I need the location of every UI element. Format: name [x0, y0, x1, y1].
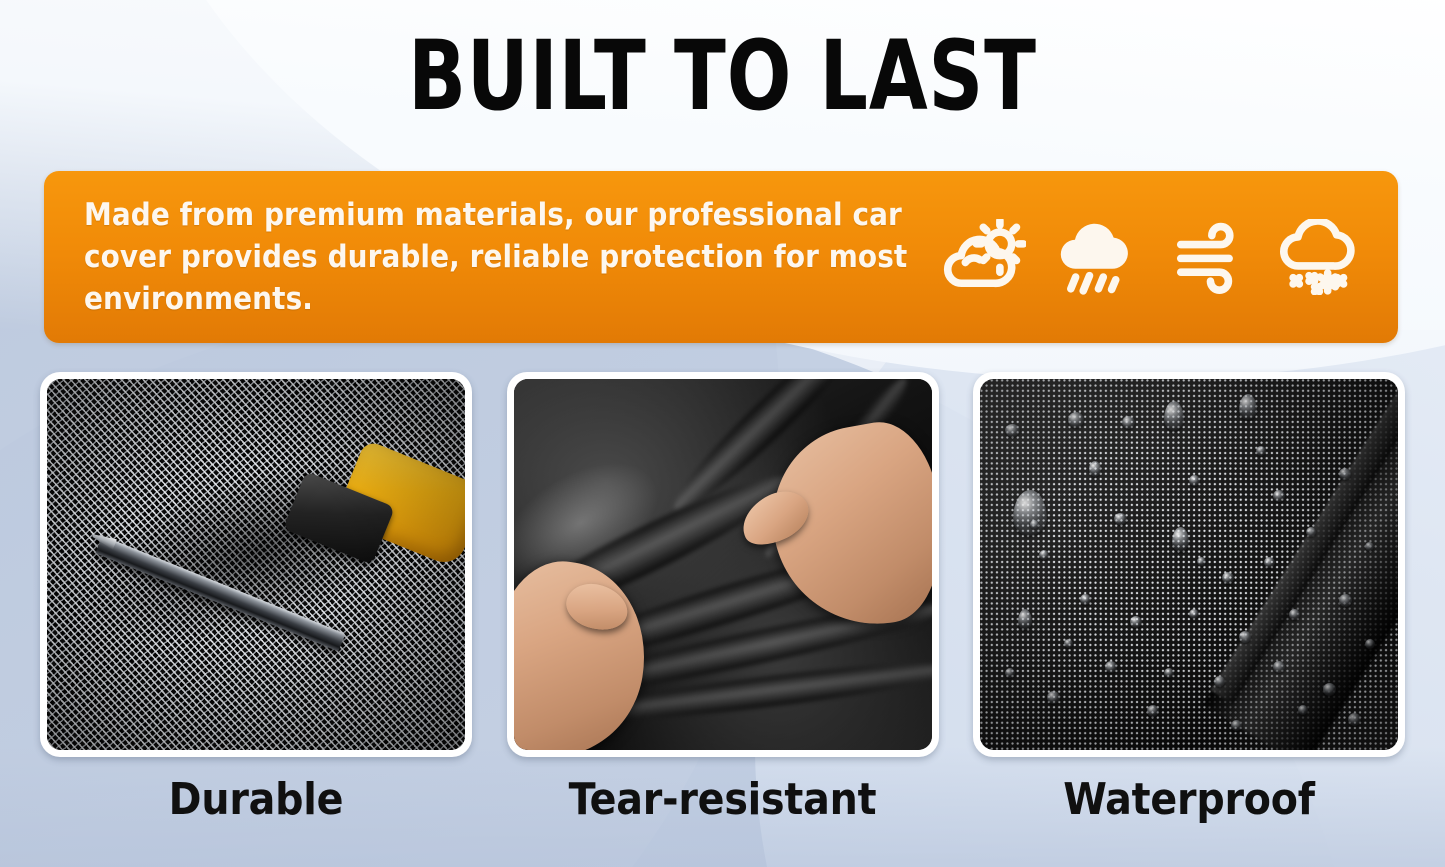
weather-icon-row	[924, 219, 1398, 295]
feature-card-frame	[507, 372, 939, 757]
tear-resistant-hands-stretch-photo	[514, 379, 932, 750]
waterproof-water-beading-photo	[980, 379, 1398, 750]
feature-card-tear-resistant: Tear-resistant	[507, 372, 939, 825]
feature-card-row: Durable Tear-r	[40, 372, 1405, 825]
feature-label-tear-resistant: Tear-resistant	[507, 775, 939, 825]
description-banner: Made from premium materials, our profess…	[44, 171, 1398, 343]
page-title: BUILT TO LAST	[87, 26, 1359, 126]
feature-label-durable: Durable	[40, 775, 472, 825]
product-feature-banner: BUILT TO LAST Made from premium material…	[0, 0, 1445, 867]
durable-fabric-screwdriver-photo	[47, 379, 465, 750]
feature-card-frame	[973, 372, 1405, 757]
wind-icon	[1165, 219, 1249, 295]
banner-description-text: Made from premium materials, our profess…	[44, 194, 924, 320]
feature-label-waterproof: Waterproof	[973, 775, 1405, 825]
feature-card-waterproof: Waterproof	[973, 372, 1405, 825]
rain-cloud-icon	[1053, 219, 1137, 295]
feature-card-durable: Durable	[40, 372, 472, 825]
snow-cloud-icon	[1276, 219, 1360, 295]
sun-cloud-icon	[942, 219, 1026, 295]
feature-card-frame	[40, 372, 472, 757]
